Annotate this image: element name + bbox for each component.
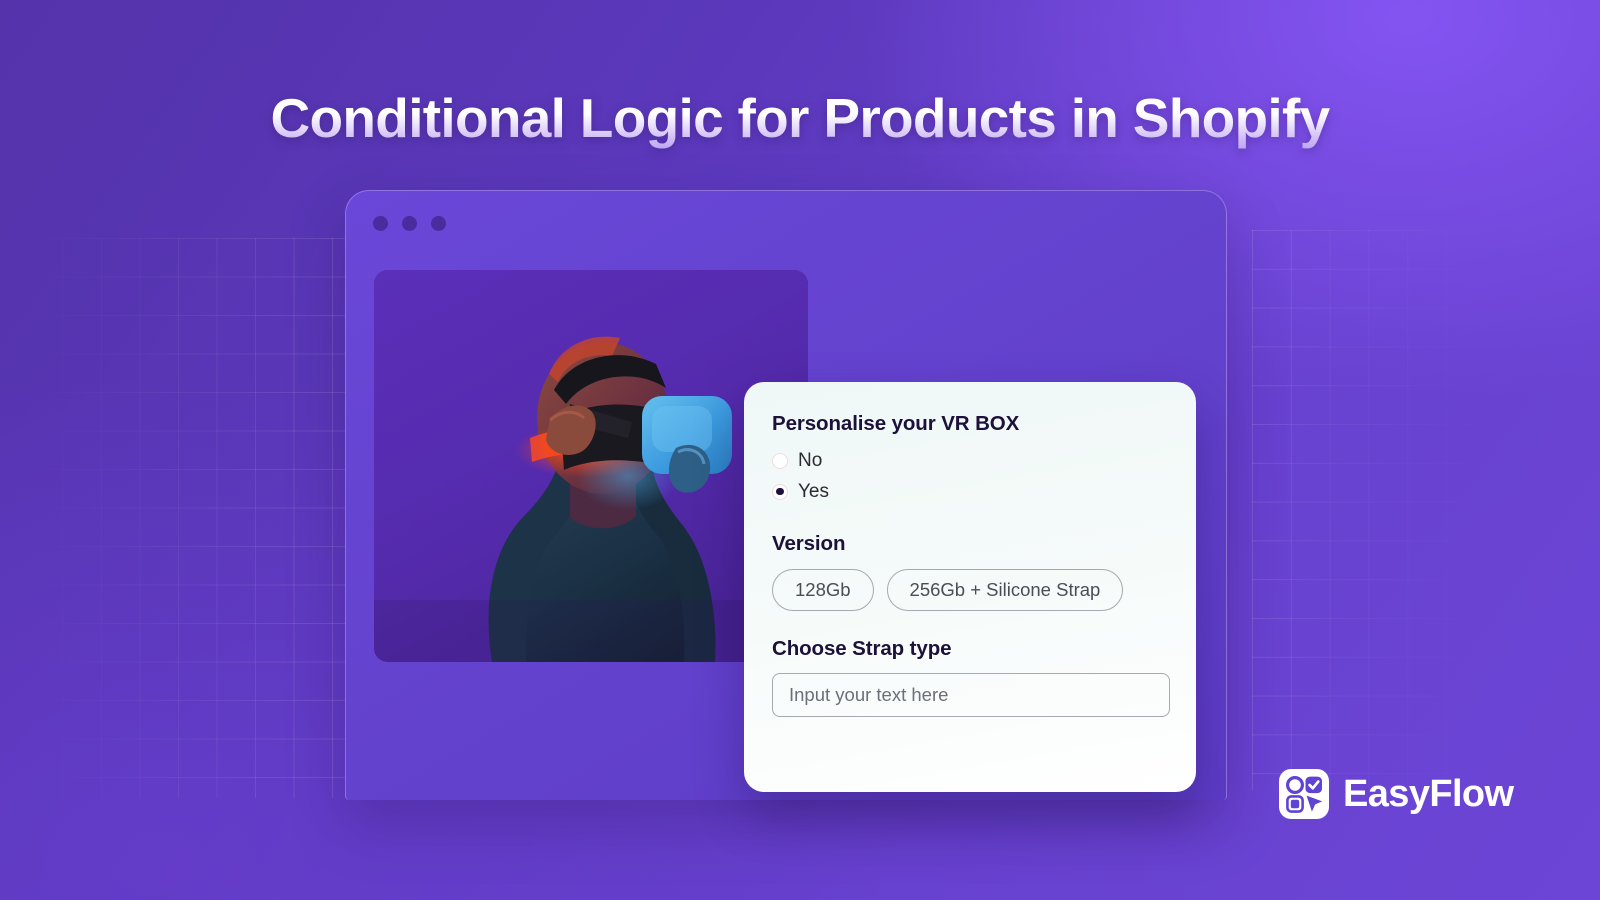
version-pill-256gb[interactable]: 256Gb + Silicone Strap [887,569,1124,611]
personalise-radio-group[interactable]: No Yes [772,445,1168,507]
product-options-card: Personalise your VR BOX No Yes Version 1… [744,382,1196,792]
easyflow-mark-icon [1279,769,1329,819]
window-dot-green-icon [431,216,446,231]
radio-label-no: No [798,450,822,472]
version-pill-128gb[interactable]: 128Gb [772,569,874,611]
version-option-group[interactable]: 128Gb 256Gb + Silicone Strap [772,569,1168,611]
brand-logo: EasyFlow [1279,769,1514,819]
cursor-icon [1307,796,1323,812]
page-title: Conditional Logic for Products in Shopif… [0,88,1600,149]
strap-type-label: Choose Strap type [772,637,1168,661]
radio-option-no[interactable]: No [772,445,1168,476]
window-dot-yellow-icon [402,216,417,231]
easyflow-glyph-group [1284,774,1324,814]
strap-type-input[interactable] [772,673,1170,717]
radio-label-yes: Yes [798,481,829,503]
product-photo [374,270,808,662]
window-dot-red-icon [373,216,388,231]
radio-icon-yes[interactable] [772,484,788,500]
personalise-label: Personalise your VR BOX [772,412,1168,436]
square-icon [1291,800,1299,808]
radio-option-yes[interactable]: Yes [772,476,1168,507]
check-square-icon [1306,777,1323,794]
version-label: Version [772,532,1168,556]
circle-icon [1288,778,1303,793]
vr-headset-photo-illustration [374,270,808,662]
brand-name: EasyFlow [1343,773,1514,816]
radio-icon-no[interactable] [772,453,788,469]
window-traffic-lights [373,216,446,231]
